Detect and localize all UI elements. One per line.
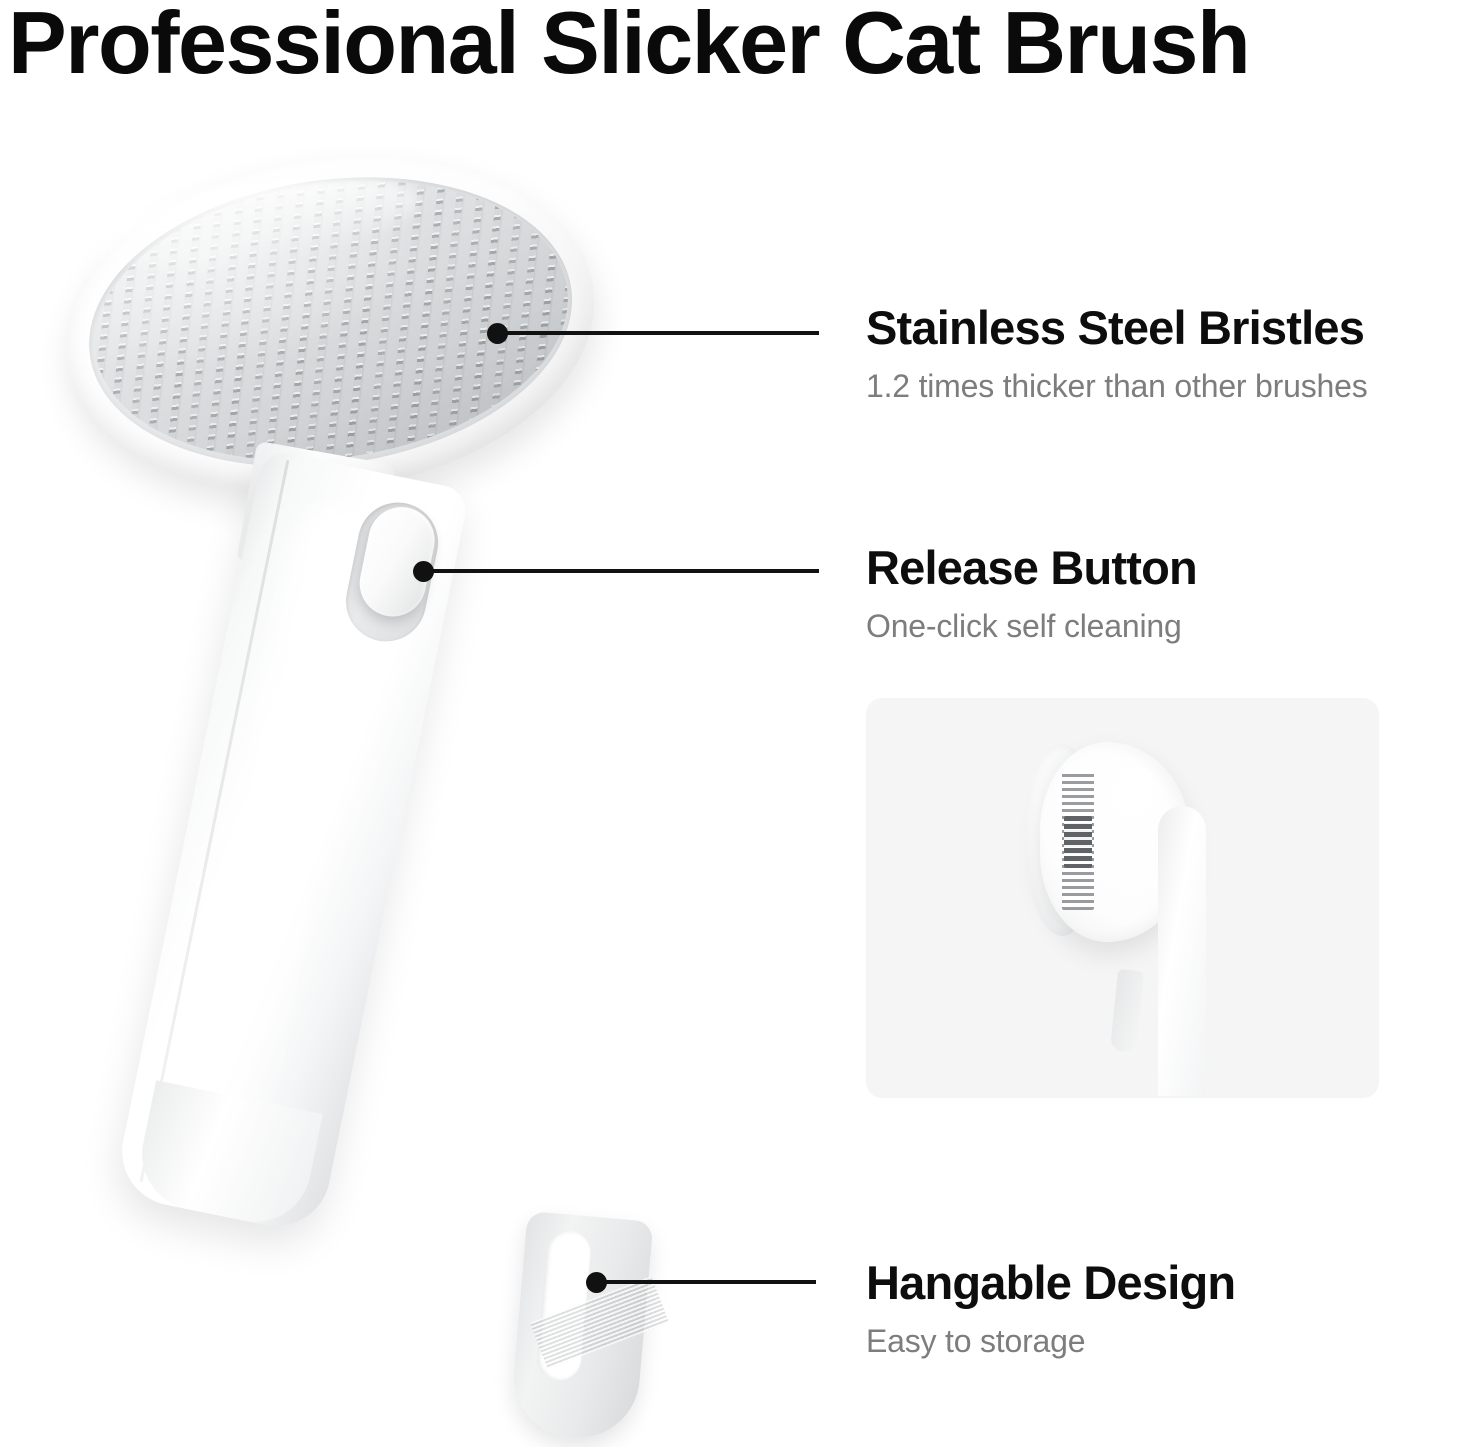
leader-line-hangable [596, 1280, 816, 1284]
callout-hangable-design: Hangable Design Easy to storage [866, 1258, 1235, 1360]
brush-head-shell [46, 125, 617, 526]
bristle-column [322, 161, 368, 482]
leader-line-release-button [423, 569, 819, 573]
inset-handle [1158, 806, 1206, 1096]
bristle-column [160, 178, 206, 490]
bristle-column [383, 155, 429, 476]
bristle-column [99, 185, 145, 490]
callout-subtitle-release-button: One-click self cleaning [866, 608, 1197, 645]
bristle-column [281, 165, 327, 486]
product-illustration [0, 0, 880, 1447]
hanging-loop-strap [509, 1211, 654, 1443]
bristle-column [423, 152, 469, 472]
bristle-column [221, 172, 267, 490]
bristle-column [362, 157, 408, 478]
hanging-loop-opening [535, 1229, 592, 1382]
bristle-pad [77, 152, 587, 490]
bristle-column [544, 152, 586, 459]
brush-head-highlight [87, 161, 425, 284]
callout-subtitle-hangable: Easy to storage [866, 1323, 1235, 1360]
bristle-column [180, 176, 226, 490]
inset-product-illustration [866, 698, 1379, 1098]
infographic-page: Professional Slicker Cat Brush [0, 0, 1467, 1447]
callout-dot-bristles [487, 323, 508, 344]
leader-line-bristles [497, 331, 819, 335]
bristle-column [241, 170, 287, 490]
bristle-column [504, 152, 550, 463]
bristle-column [524, 152, 570, 461]
callout-dot-release-button [413, 561, 434, 582]
callout-subtitle-bristles: 1.2 times thicker than other brushes [866, 368, 1368, 405]
bristle-column [120, 182, 166, 489]
brush-head-rim [70, 148, 591, 497]
brush-head [46, 125, 617, 526]
handle-highlight [178, 498, 388, 1132]
callout-title-release-button: Release Button [866, 543, 1197, 592]
bristle-column [463, 152, 509, 468]
bristle-column [261, 168, 307, 489]
bristle-column [565, 152, 587, 457]
bristle-column [140, 180, 186, 489]
release-button-detail-panel [866, 698, 1379, 1098]
inset-bristle-row-shadowed [1064, 816, 1092, 868]
bristle-column [77, 189, 105, 490]
brush-neck [237, 441, 396, 583]
bristle-column [79, 187, 125, 490]
bristle-column [302, 163, 348, 484]
handle-foot [132, 1080, 323, 1231]
callout-title-hangable: Hangable Design [866, 1258, 1235, 1307]
bristle-column [201, 174, 247, 490]
bristle-grid [77, 152, 587, 490]
bristle-column [484, 152, 530, 466]
handle-seam [139, 460, 289, 1183]
bristle-pad-shading [77, 152, 587, 490]
bristle-column [443, 152, 489, 470]
hanging-loop-part [509, 1211, 654, 1443]
callout-dot-hangable [586, 1272, 607, 1293]
inset-release-tab [1110, 969, 1144, 1053]
bristle-column [403, 153, 449, 474]
callout-stainless-steel-bristles: Stainless Steel Bristles 1.2 times thick… [866, 303, 1368, 405]
page-title: Professional Slicker Cat Brush [8, 0, 1249, 94]
bristle-column [342, 159, 388, 480]
callout-title-bristles: Stainless Steel Bristles [866, 303, 1368, 352]
callout-release-button: Release Button One-click self cleaning [866, 543, 1197, 645]
